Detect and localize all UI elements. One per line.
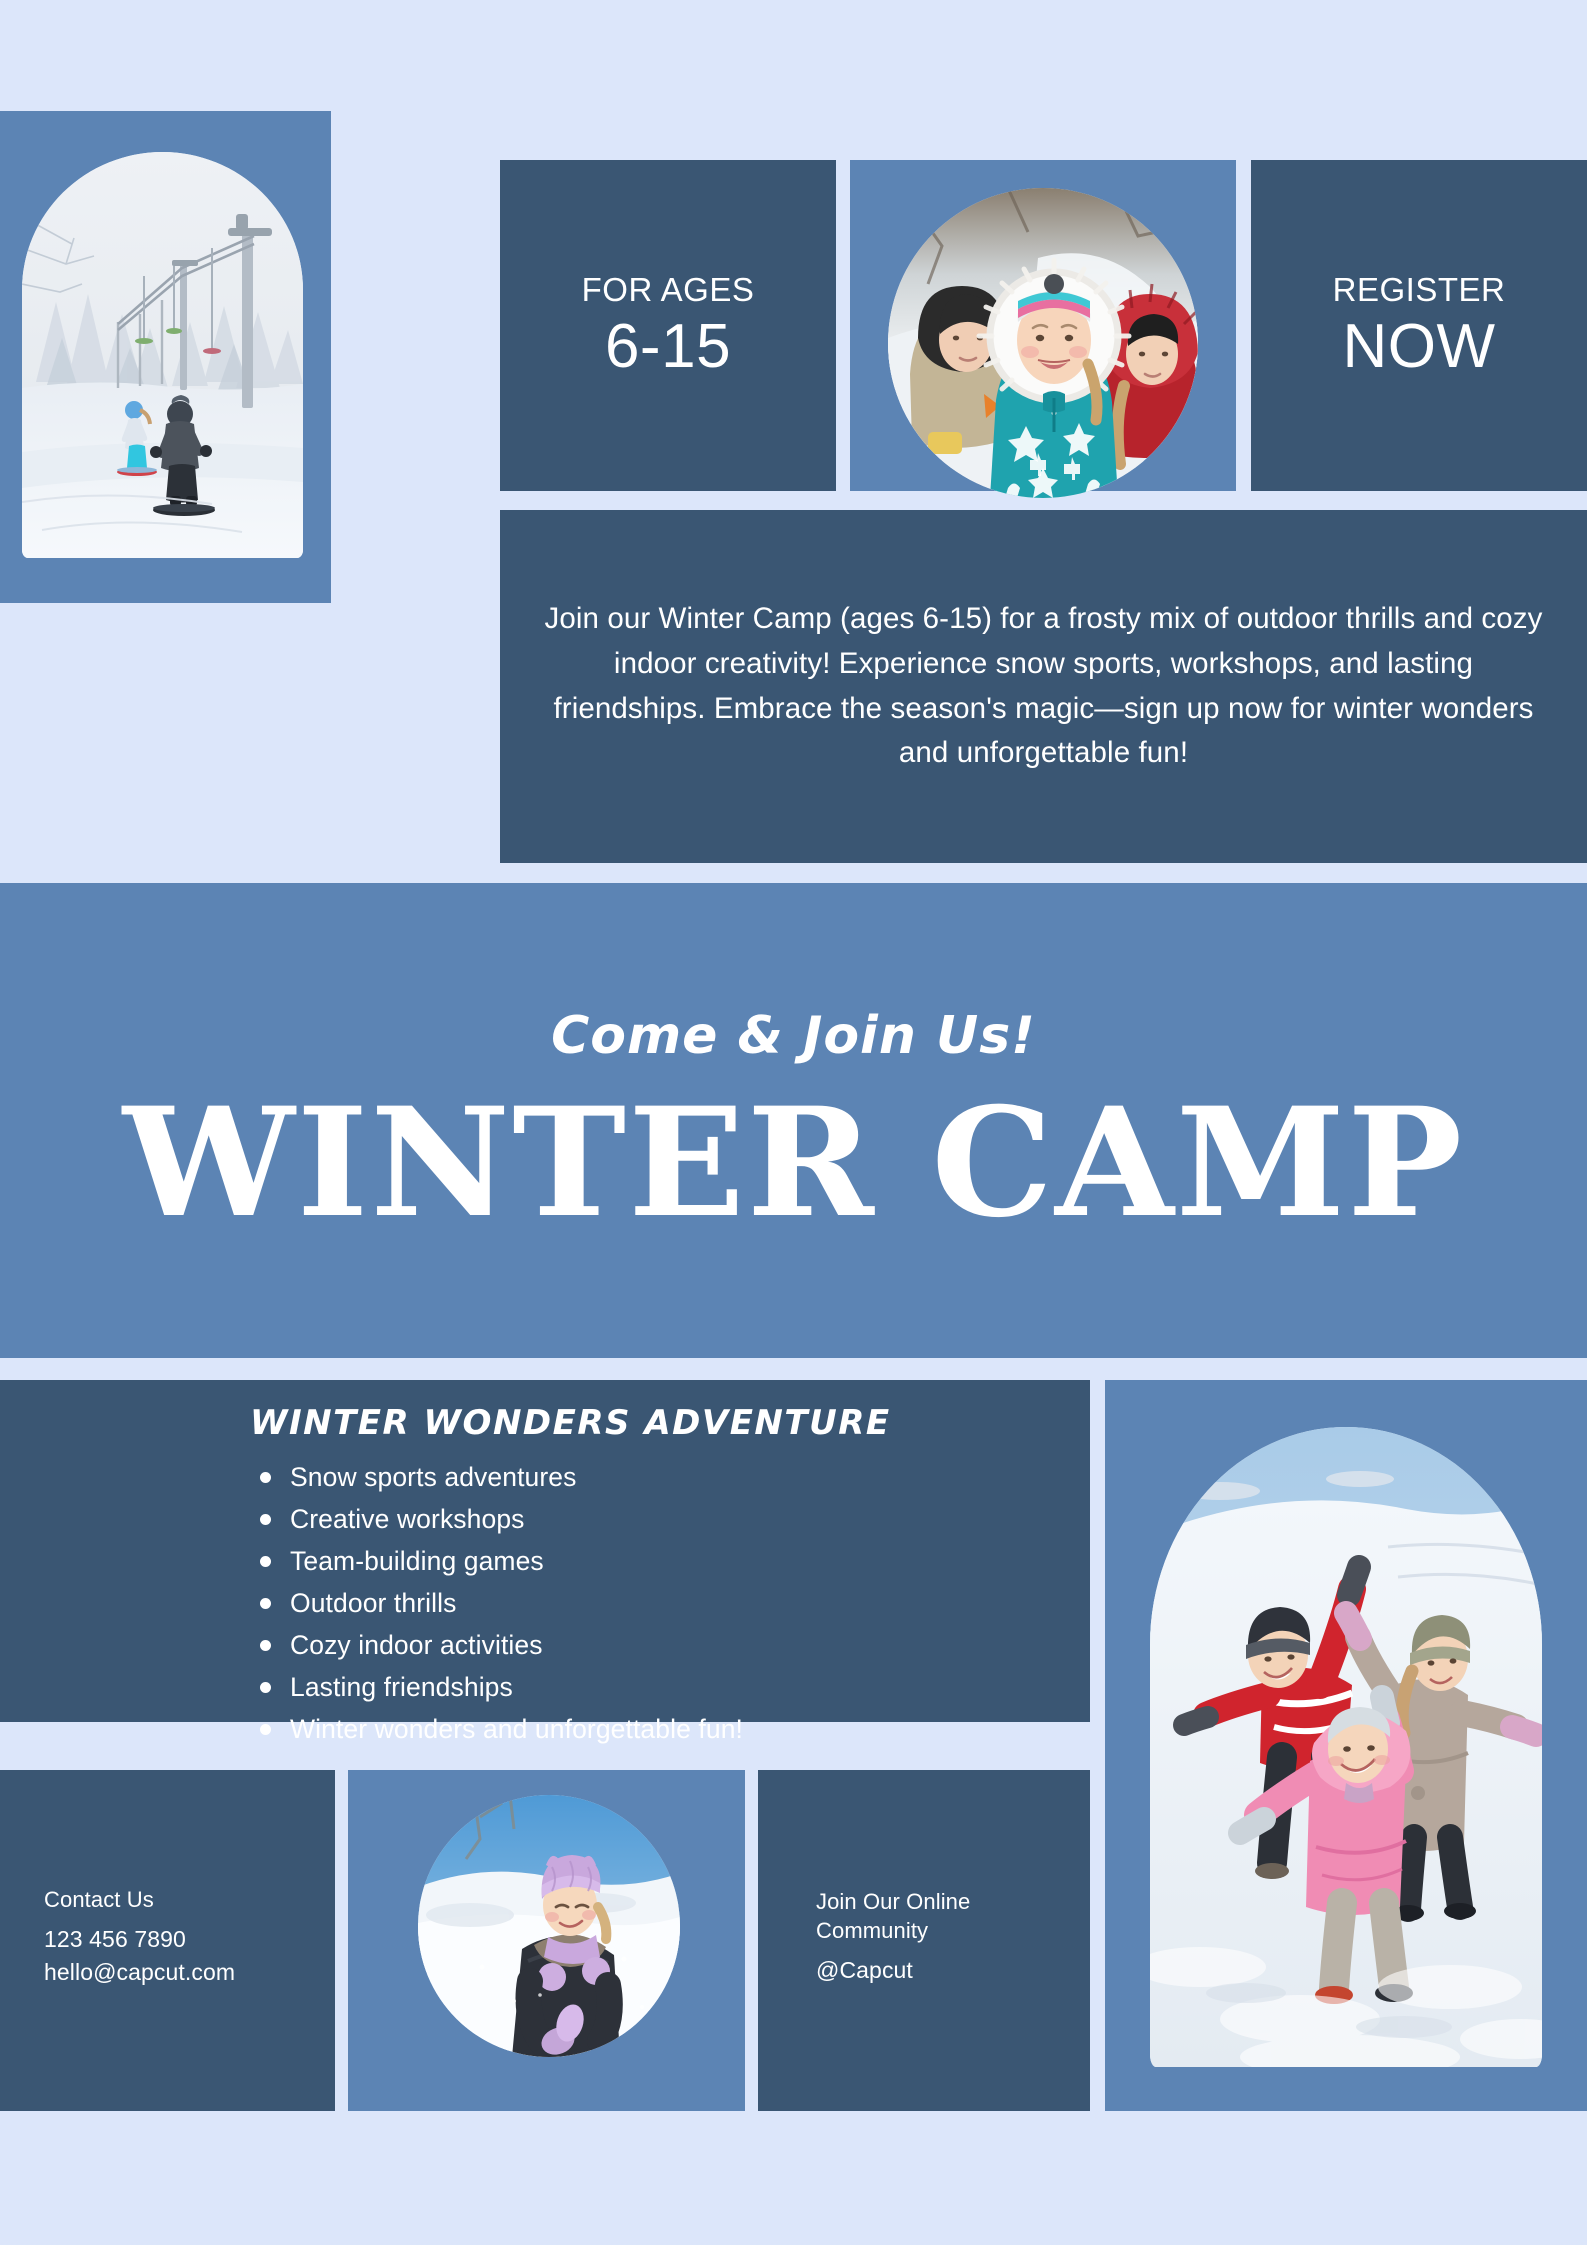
contact-heading: Contact Us (44, 1885, 235, 1914)
list-item: Winter wonders and unforgettable fun! (252, 1716, 743, 1743)
features-panel: WINTER WONDERS ADVENTURE Snow sports adv… (0, 1380, 1090, 1722)
social-heading-line1: Join Our Online (816, 1887, 970, 1916)
list-item: Creative workshops (252, 1506, 743, 1533)
banner-title: WINTER CAMP (123, 1092, 1464, 1235)
register-now-panel[interactable]: REGISTER NOW (1251, 160, 1587, 491)
social-panel: Join Our Online Community @Capcut (758, 1770, 1090, 2111)
photo-ski-lift (22, 152, 303, 558)
features-heading: WINTER WONDERS ADVENTURE (250, 1403, 891, 1443)
photo-three-kids (888, 188, 1198, 498)
list-item: Snow sports adventures (252, 1464, 743, 1491)
list-item: Cozy indoor activities (252, 1632, 743, 1659)
photo-kids-playing (1150, 1427, 1542, 2067)
for-ages-value: 6-15 (605, 314, 731, 379)
register-label: REGISTER (1333, 272, 1506, 308)
features-list: Snow sports adventures Creative workshop… (252, 1464, 743, 1758)
banner-kicker: Come & Join Us! (551, 1006, 1036, 1066)
for-ages-label: FOR AGES (582, 272, 755, 308)
for-ages-panel: FOR AGES 6-15 (500, 160, 836, 491)
poster-canvas: FOR AGES 6-15 (0, 0, 1587, 2245)
main-banner: Come & Join Us! WINTER CAMP (0, 883, 1587, 1358)
contact-panel: Contact Us 123 456 7890 hello@capcut.com (0, 1770, 335, 2111)
list-item: Outdoor thrills (252, 1590, 743, 1617)
list-item: Lasting friendships (252, 1674, 743, 1701)
intro-paragraph-panel: Join our Winter Camp (ages 6-15) for a f… (500, 510, 1587, 863)
social-heading-line2: Community (816, 1916, 970, 1945)
intro-paragraph: Join our Winter Camp (ages 6-15) for a f… (500, 597, 1587, 776)
contact-phone[interactable]: 123 456 7890 (44, 1923, 235, 1956)
register-value: NOW (1342, 314, 1495, 379)
contact-email[interactable]: hello@capcut.com (44, 1956, 235, 1989)
social-handle[interactable]: @Capcut (816, 1954, 970, 1987)
list-item: Team-building games (252, 1548, 743, 1575)
photo-girl-lavender (418, 1795, 680, 2057)
